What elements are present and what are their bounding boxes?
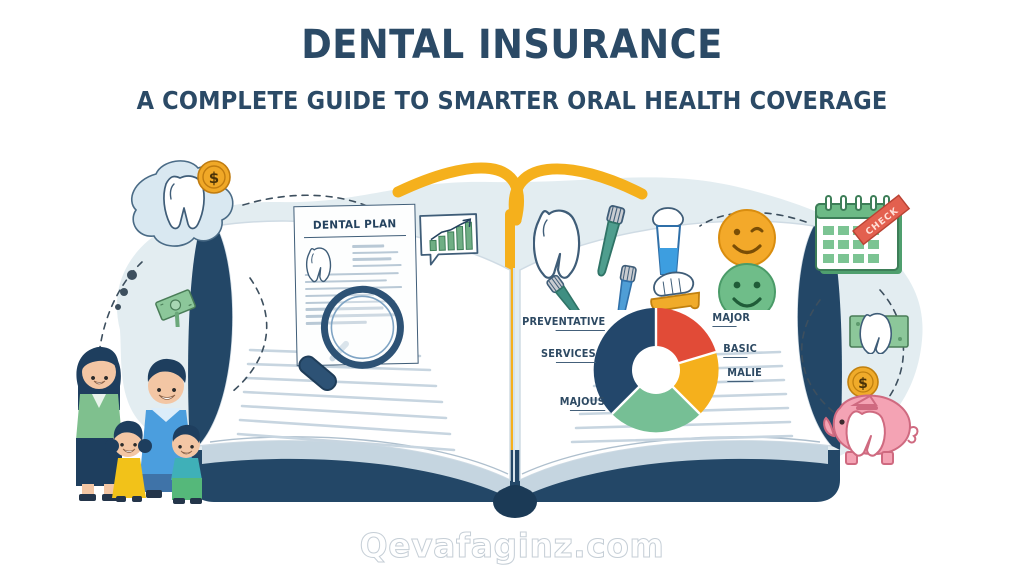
money-bill-icon [152, 285, 202, 327]
winking-smiley-icon [719, 210, 775, 266]
svg-text:$: $ [209, 169, 219, 187]
pie-label-basic: BASIC [723, 343, 757, 358]
dental-plan-title: DENTAL PLAN [298, 217, 412, 232]
family-illustration [62, 336, 237, 508]
infographic-canvas: $ [0, 0, 1024, 576]
svg-text:$: $ [858, 376, 868, 392]
toothbrush-icon [546, 274, 587, 310]
leader-line [727, 381, 753, 382]
pie-label-malie: MALIE [727, 367, 762, 382]
plan-title-divider [304, 235, 406, 239]
magnifying-glass-icon [278, 272, 408, 417]
coverage-donut-chart[interactable] [588, 302, 724, 438]
plan-body [295, 244, 415, 268]
pie-label-majous: MAJOUS [560, 396, 605, 411]
dollar-coin-icon: $ [198, 161, 230, 193]
leader-line [555, 330, 605, 331]
plan-text-lines [352, 244, 406, 267]
money-with-tooth-icon [846, 308, 912, 354]
tooth-cost-thought-bubble: $ [118, 152, 243, 272]
site-watermark: Qevafaginz.com [0, 526, 1024, 565]
leader-line [712, 326, 736, 327]
pie-label-major: MAJOR [712, 312, 750, 327]
appointment-calendar-icon: CHECK [808, 188, 918, 288]
family-boy [171, 425, 202, 504]
leader-line [723, 357, 747, 358]
leader-line [556, 362, 595, 363]
bar-chart-card-icon [417, 211, 481, 271]
toothbrush-icon [593, 205, 625, 277]
dollar-coin-icon: $ [848, 367, 878, 397]
pie-label-services: SERVICES [541, 348, 596, 363]
piggy-bank-with-tooth-icon: $ [818, 360, 928, 470]
tooth-icon [534, 211, 579, 278]
rinse-cup-icon [653, 208, 683, 274]
pie-label-preventative: PREVENTATIVE [522, 316, 605, 331]
smiley-icon [719, 264, 775, 310]
oral-care-icon-grid [533, 200, 785, 310]
leader-line [570, 410, 605, 411]
